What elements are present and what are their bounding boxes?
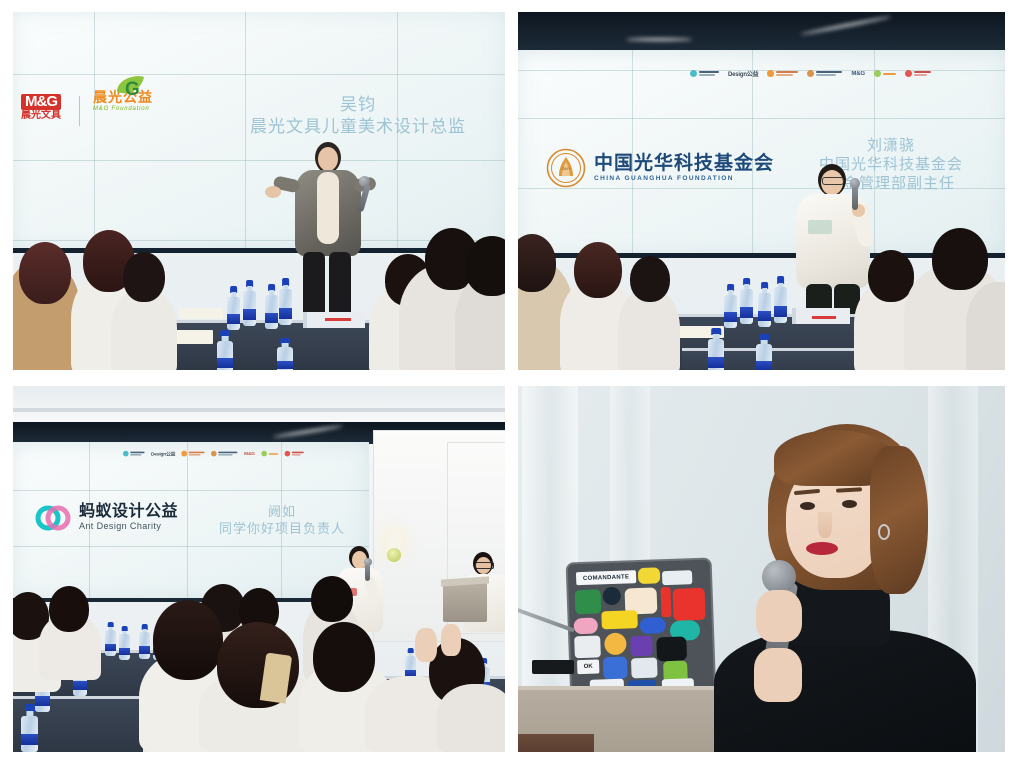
sticker [662, 570, 692, 585]
sticker [630, 636, 653, 657]
audience-member [437, 684, 505, 752]
speaker-eye [842, 500, 857, 508]
logo-divider [79, 96, 80, 126]
water-bottle [708, 328, 724, 370]
photo-top-right: Design公益 M&G [518, 12, 1005, 370]
water-bottle [740, 278, 753, 324]
mg-stationery-logo: M&G 晨光文具 [21, 94, 61, 121]
partner-logo-strip: Design公益 M&G [123, 450, 304, 457]
ceiling-trim [13, 408, 505, 412]
sconce-globe-light [387, 548, 401, 562]
speaker-caption: 吴钧 晨光文具儿童美术设计总监 [213, 94, 503, 138]
audience-member [49, 586, 89, 632]
podium-mic-base [532, 660, 574, 674]
mg-foundation-logo [261, 451, 278, 457]
earring [878, 524, 890, 540]
mg-foundation-logo [874, 70, 896, 77]
desk-paper [179, 308, 223, 319]
sticker [631, 657, 658, 678]
sticker [656, 636, 687, 661]
design-charity-logo: Design公益 [151, 450, 175, 457]
sticker [574, 635, 601, 658]
sticker [603, 657, 628, 680]
audience-member [574, 242, 622, 298]
audience-member [123, 252, 165, 302]
guanghua-seal-icon: GMY [546, 148, 586, 188]
sticker [640, 617, 667, 634]
sticker [660, 587, 671, 617]
microphone [365, 564, 370, 581]
partner-logo-red [284, 451, 303, 457]
sticker [575, 589, 602, 614]
ant-design-charity-logo: 蚂蚁设计公益 Ant Design Charity [35, 504, 178, 532]
laptop-with-stickers: COMANDANTE OK [566, 557, 717, 704]
speaker-nose [818, 512, 832, 538]
water-bottle [227, 286, 240, 330]
audience-member [153, 600, 223, 680]
water-bottle [139, 624, 150, 659]
design-charity-logo: Design公益 [728, 69, 758, 78]
water-bottle [277, 338, 293, 370]
sticker [602, 587, 621, 606]
sticker [604, 633, 627, 656]
speaker-caption: 阙如 同学你好项目负责人 [197, 504, 367, 537]
microphone-head [762, 560, 796, 594]
water-bottle [217, 330, 233, 370]
sticker [638, 567, 661, 584]
partner-logo-orange [767, 70, 798, 77]
water-bottle [756, 334, 772, 370]
water-bottle [265, 284, 278, 329]
water-bottle [279, 278, 292, 325]
water-bottle [758, 282, 771, 327]
partner-logo-strip: Design公益 M&G [690, 69, 931, 78]
svg-text:G: G [125, 79, 140, 100]
speaker-hand-lower [754, 648, 802, 702]
partner-logo-red [905, 70, 931, 77]
photo-bottom-left: Design公益 M&G 蚂蚁设计公益 Ant Design Charity 阙… [13, 386, 505, 752]
audience-member [465, 236, 505, 296]
clapping-hand [441, 624, 461, 656]
water-bottle [105, 622, 116, 656]
audience-member [313, 622, 375, 692]
podium-base [518, 734, 594, 752]
mg-stationery-logo: M&G [851, 71, 864, 77]
sticker [673, 588, 706, 621]
speaker-hand-upper [756, 590, 802, 642]
speaker-lips [806, 542, 838, 555]
photo-top-left: M&G 晨光文具 晨光公益 M&G Foundation G 吴钧 晨光文具儿童… [13, 12, 505, 370]
guanghua-foundation-logo [807, 70, 842, 77]
audience-member [19, 242, 71, 304]
photo-bottom-right: COMANDANTE OK [518, 386, 1005, 752]
ceiling-cove [13, 386, 505, 422]
partner-logo-orange [182, 451, 205, 457]
ant-design-charity-logo [690, 70, 719, 77]
water-bottle [774, 276, 787, 323]
lectern [443, 582, 487, 622]
water-bottle [21, 704, 38, 752]
guanghua-foundation-logo [211, 451, 237, 457]
svg-text:GMY: GMY [561, 166, 570, 171]
audience-member [311, 576, 353, 622]
desk-pen [812, 316, 836, 319]
speaker-eye [800, 502, 815, 510]
leaf-g-icon: G [111, 74, 147, 104]
clapping-hand [415, 628, 437, 662]
water-bottle [119, 626, 130, 660]
desk-pen [325, 318, 351, 321]
ant-design-charity-icon [35, 504, 71, 532]
water-bottle [243, 280, 256, 326]
microphone [852, 186, 858, 210]
sticker-comandante: COMANDANTE [576, 570, 636, 585]
mg-stationery-logo: M&G [244, 451, 255, 456]
sticker [601, 610, 638, 629]
photo-collage: M&G 晨光文具 晨光公益 M&G Foundation G 吴钧 晨光文具儿童… [0, 0, 1018, 764]
speaker-hair-side [870, 446, 928, 594]
water-bottle [724, 284, 737, 328]
audience-member [932, 228, 988, 290]
speaker-torso [714, 630, 976, 752]
ant-design-charity-logo [123, 451, 145, 457]
sticker-ok: OK [577, 659, 599, 674]
sticker [574, 618, 599, 635]
audience-member [630, 256, 670, 302]
china-guanghua-foundation-logo: GMY 中国光华科技基金会 CHINA GUANGHUA FOUNDATION [546, 148, 774, 188]
